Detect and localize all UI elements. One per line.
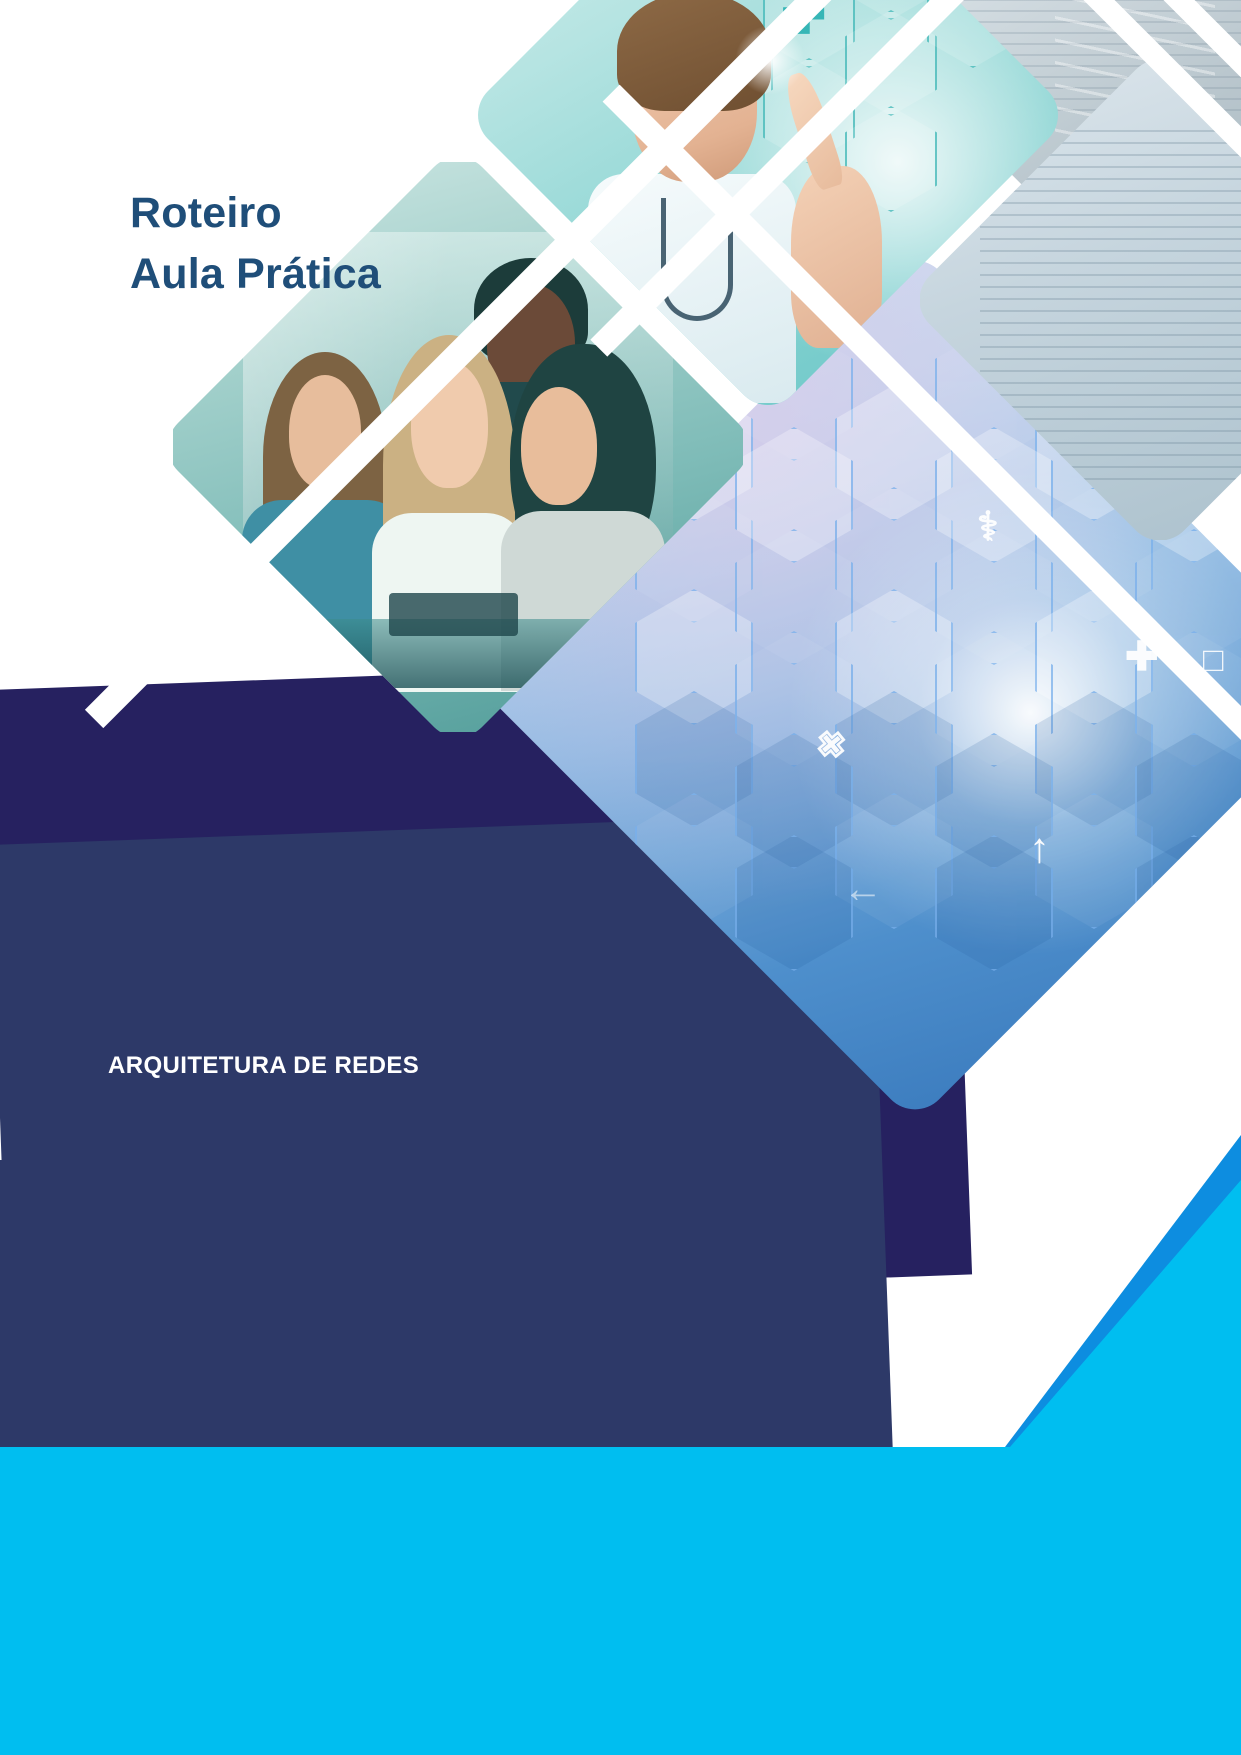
- photo-collage: ⚕ ✙ ✚ ↑ ← □: [0, 0, 1241, 1200]
- cyan-bottom-band: [0, 1447, 1241, 1755]
- laptop: [389, 593, 518, 636]
- bowl-of-hygieia-icon: ⚕: [977, 507, 999, 547]
- navy-light-panel-foot: [0, 1160, 880, 1450]
- arrow-up-icon: ↑: [1029, 827, 1050, 869]
- arrow-left-icon: ←: [843, 869, 883, 909]
- cover-page: ⚕ ✙ ✚ ↑ ← □: [0, 0, 1241, 1755]
- course-title: ARQUITETURA DE REDES: [108, 1052, 419, 1080]
- page-title: Roteiro Aula Prática: [130, 183, 381, 305]
